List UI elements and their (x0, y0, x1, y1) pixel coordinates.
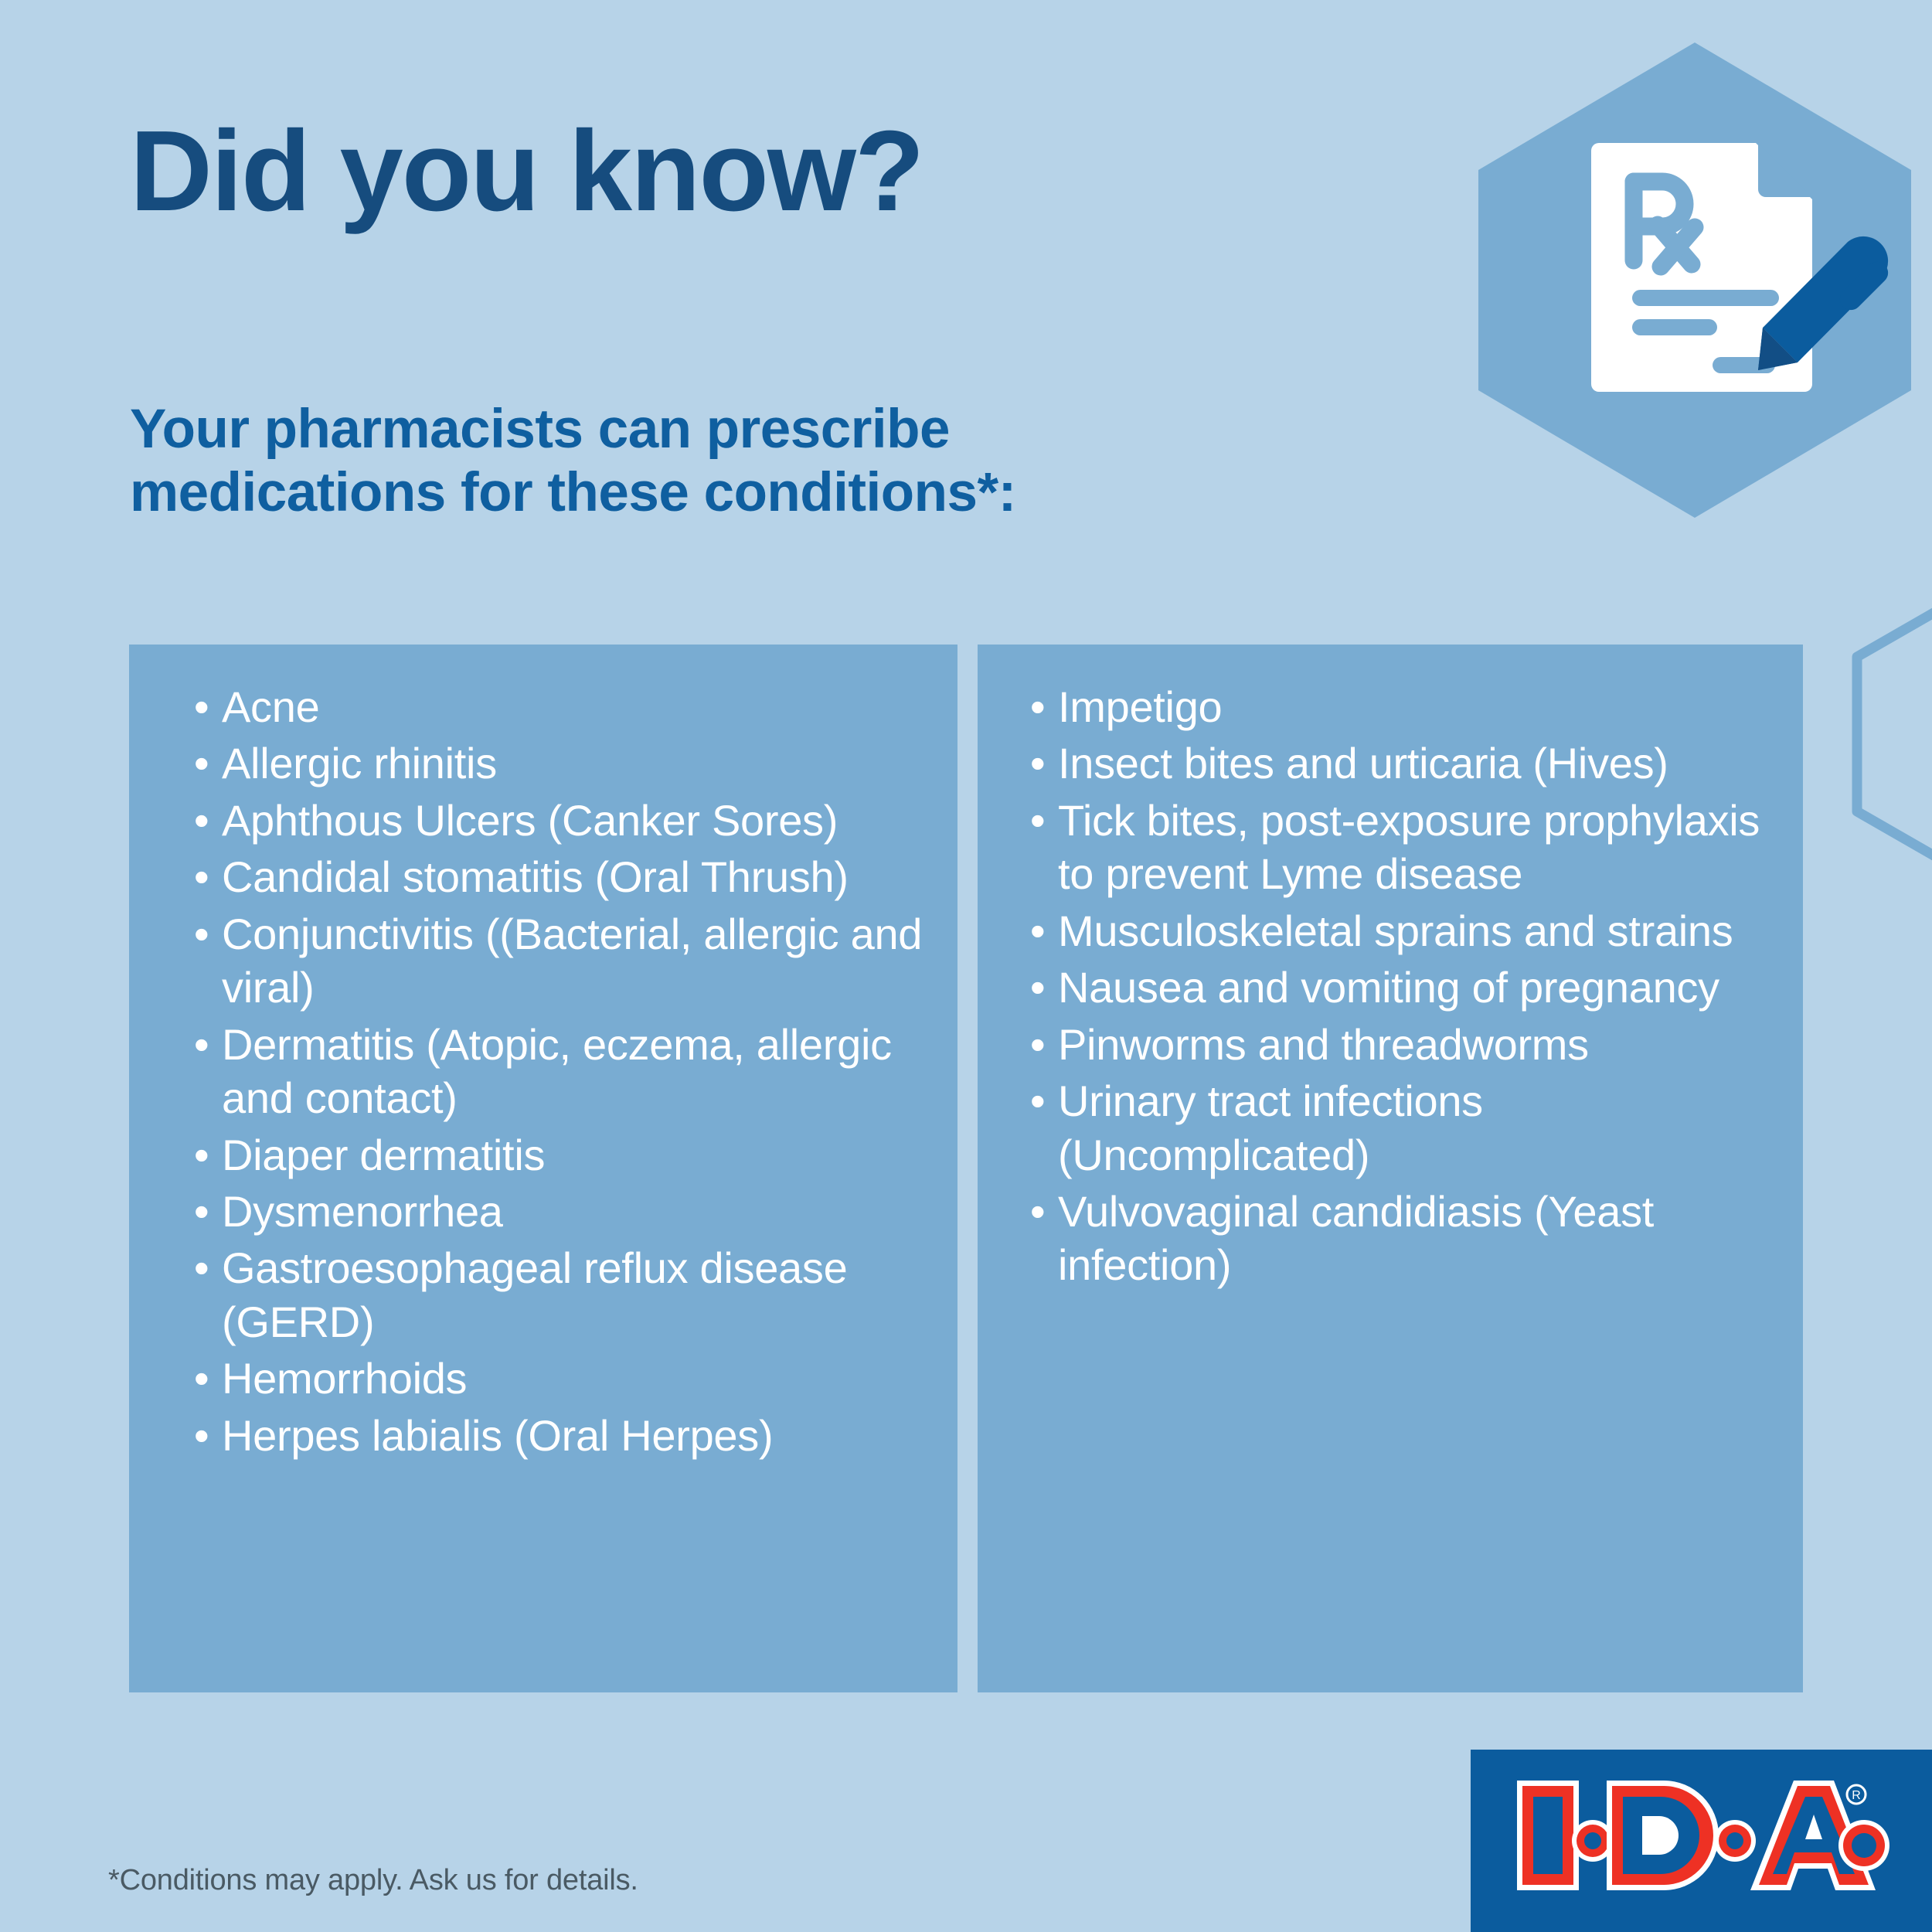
condition-right-item-label: Impetigo (1058, 682, 1222, 731)
condition-left-item: •Dysmenorrhea (189, 1185, 931, 1238)
condition-right-item-label: Pinworms and threadworms (1058, 1020, 1589, 1069)
conditions-list-left: •Acne•Allergic rhinitis•Aphthous Ulcers … (189, 680, 931, 1465)
bullet-icon: • (1030, 961, 1045, 1014)
ida-logo-band: R (1471, 1750, 1932, 1932)
condition-right-item: •Insect bites and urticaria (Hives) (1026, 736, 1783, 790)
bullet-icon: • (194, 1352, 209, 1405)
ida-logo: R (1512, 1776, 1899, 1907)
bullet-icon: • (1030, 1074, 1045, 1128)
condition-left-item-label: Aphthous Ulcers (Canker Sores) (222, 796, 838, 845)
condition-left-item-label: Dysmenorrhea (222, 1187, 503, 1236)
condition-right-item-label: Urinary tract infections (Uncomplicated) (1058, 1077, 1483, 1179)
condition-right-item-label: Musculoskeletal sprains and strains (1058, 906, 1733, 955)
condition-right-item: •Pinworms and threadworms (1026, 1018, 1783, 1071)
condition-right-item: •Musculoskeletal sprains and strains (1026, 904, 1783, 957)
condition-right-item: •Nausea and vomiting of pregnancy (1026, 961, 1783, 1014)
hexagon-rx-decoration (1455, 35, 1932, 591)
subtitle-line-2: medications for these conditions*: (130, 461, 1016, 525)
conditions-panel-left: •Acne•Allergic rhinitis•Aphthous Ulcers … (129, 645, 957, 1692)
bullet-icon: • (1030, 794, 1045, 847)
pencil-icon (1758, 236, 1888, 370)
footnote-text: *Conditions may apply. Ask us for detail… (108, 1864, 638, 1897)
condition-left-item: •Allergic rhinitis (189, 736, 931, 790)
bullet-icon: • (194, 1185, 209, 1238)
bullet-icon: • (1030, 736, 1045, 790)
rx-prescription-icon (1455, 35, 1932, 591)
condition-left-item: •Aphthous Ulcers (Canker Sores) (189, 794, 931, 847)
condition-left-item: •Herpes labialis (Oral Herpes) (189, 1409, 931, 1462)
condition-left-item: •Hemorrhoids (189, 1352, 931, 1405)
condition-right-item: •Urinary tract infections (Uncomplicated… (1026, 1074, 1783, 1182)
bullet-icon: • (1030, 904, 1045, 957)
conditions-list-right: •Impetigo•Insect bites and urticaria (Hi… (1026, 680, 1783, 1295)
bullet-icon: • (1030, 680, 1045, 733)
condition-left-item: •Conjunctivitis ((Bacterial, allergic an… (189, 907, 931, 1015)
condition-left-item-label: Diaper dermatitis (222, 1131, 545, 1179)
condition-left-item: •Dermatitis (Atopic, eczema, allergic an… (189, 1018, 931, 1125)
bullet-icon: • (194, 1018, 209, 1071)
condition-right-item-label: Nausea and vomiting of pregnancy (1058, 963, 1719, 1012)
condition-left-item-label: Herpes labialis (Oral Herpes) (222, 1411, 773, 1460)
condition-right-item-label: Tick bites, post-exposure prophylaxis to… (1058, 796, 1760, 898)
conditions-panel-right: •Impetigo•Insect bites and urticaria (Hi… (978, 645, 1803, 1692)
svg-text:R: R (1852, 1789, 1861, 1802)
condition-left-item: •Diaper dermatitis (189, 1128, 931, 1182)
bullet-icon: • (194, 1241, 209, 1294)
bullet-icon: • (194, 1409, 209, 1462)
condition-left-item: •Candidal stomatitis (Oral Thrush) (189, 850, 931, 903)
condition-left-item-label: Gastroesophageal reflux disease (GERD) (222, 1243, 847, 1345)
bullet-icon: • (1030, 1018, 1045, 1071)
condition-left-item-label: Candidal stomatitis (Oral Thrush) (222, 852, 849, 901)
condition-left-item-label: Allergic rhinitis (222, 739, 497, 787)
bullet-icon: • (194, 736, 209, 790)
registered-trademark-icon: R (1847, 1785, 1866, 1804)
condition-left-item-label: Acne (222, 682, 319, 731)
condition-right-item: •Impetigo (1026, 680, 1783, 733)
condition-left-item-label: Conjunctivitis ((Bacterial, allergic and… (222, 910, 922, 1012)
bullet-icon: • (194, 680, 209, 733)
condition-right-item-label: Insect bites and urticaria (Hives) (1058, 739, 1668, 787)
bullet-icon: • (194, 1128, 209, 1182)
condition-left-item-label: Dermatitis (Atopic, eczema, allergic and… (222, 1020, 892, 1122)
bullet-icon: • (194, 850, 209, 903)
condition-right-item: •Tick bites, post-exposure prophylaxis t… (1026, 794, 1783, 901)
condition-left-item-label: Hemorrhoids (222, 1354, 467, 1403)
page-subtitle: Your pharmacists can prescribe medicatio… (130, 398, 1016, 526)
condition-right-item: •Vulvovaginal candidiasis (Yeast infecti… (1026, 1185, 1783, 1292)
bullet-icon: • (194, 794, 209, 847)
bullet-icon: • (194, 907, 209, 961)
condition-right-item-label: Vulvovaginal candidiasis (Yeast infectio… (1058, 1187, 1654, 1289)
bullet-icon: • (1030, 1185, 1045, 1238)
condition-left-item: •Acne (189, 680, 931, 733)
infographic-canvas: Did you know? Your pharmacists can presc… (0, 0, 1932, 1932)
subtitle-line-1: Your pharmacists can prescribe (130, 398, 1016, 461)
page-title: Did you know? (130, 114, 923, 229)
condition-left-item: •Gastroesophageal reflux disease (GERD) (189, 1241, 931, 1349)
